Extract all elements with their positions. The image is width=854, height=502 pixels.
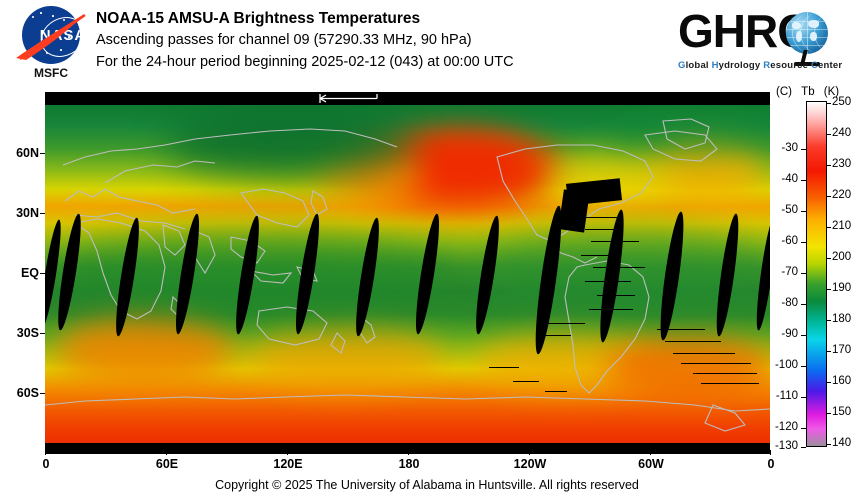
lat-tick-label: 60N bbox=[5, 146, 39, 160]
copyright-notice: Copyright © 2025 The University of Alaba… bbox=[0, 478, 854, 492]
globe-icon bbox=[786, 12, 828, 54]
colorbar-celsius-label: -40 bbox=[768, 173, 798, 185]
colorbar-celsius-label: -90 bbox=[768, 328, 798, 340]
colorbar-kelvin-label: 190 bbox=[832, 282, 854, 294]
lat-tick-label: 30S bbox=[5, 326, 39, 340]
colorbar-celsius-label: -80 bbox=[768, 297, 798, 309]
scanline-artifact bbox=[545, 391, 567, 392]
colorbar-kelvin-label: 230 bbox=[832, 158, 854, 170]
map-bottom-border-bar bbox=[45, 443, 770, 454]
ghrc-tagline: Global Hydrology Resource Center bbox=[678, 60, 846, 71]
scanline-artifact bbox=[581, 255, 621, 256]
scanline-artifact bbox=[537, 335, 571, 336]
colorbar-celsius-label: -100 bbox=[764, 359, 798, 371]
colorbar-celsius-label: -120 bbox=[764, 421, 798, 433]
page-subtitle-channel: Ascending passes for channel 09 (57290.3… bbox=[96, 29, 656, 51]
colorbar-kelvin-label: 210 bbox=[832, 220, 854, 232]
temperature-colorbar[interactable] bbox=[806, 101, 827, 447]
scanline-artifact bbox=[593, 267, 645, 268]
scanline-artifact bbox=[597, 295, 635, 296]
colorbar-celsius-label: -50 bbox=[768, 204, 798, 216]
scanline-artifact bbox=[579, 217, 623, 218]
lon-tick-label: 60W bbox=[631, 457, 671, 471]
swath-start-marker-icon bbox=[317, 92, 403, 105]
colorbar-celsius-label: -60 bbox=[768, 235, 798, 247]
page-header: NASA MSFC NOAA-15 AMSU-A Brightness Temp… bbox=[0, 0, 854, 88]
colorbar-kelvin-label: 160 bbox=[832, 375, 854, 387]
colorbar-variable: Tb bbox=[801, 86, 814, 98]
colorbar-kelvin-label: 220 bbox=[832, 189, 854, 201]
lon-tick-label: 120W bbox=[510, 457, 550, 471]
colorbar-kelvin-label: 250 bbox=[832, 96, 854, 108]
colorbar-kelvin-label: 150 bbox=[832, 406, 854, 418]
title-block: NOAA-15 AMSU-A Brightness Temperatures A… bbox=[96, 8, 656, 73]
page-subtitle-period: For the 24-hour period beginning 2025-02… bbox=[96, 51, 656, 73]
lat-tick-label: 30N bbox=[5, 206, 39, 220]
scanline-artifact bbox=[585, 281, 631, 282]
colorbar-kelvin-label: 170 bbox=[832, 344, 854, 356]
scanline-artifact bbox=[591, 241, 639, 242]
scanline-artifact bbox=[589, 309, 633, 310]
scanline-artifact bbox=[585, 229, 621, 230]
lat-tick-label: EQ bbox=[5, 266, 39, 280]
scanline-artifact bbox=[513, 381, 539, 382]
colorbar-kelvin-label: 200 bbox=[832, 251, 854, 263]
colorbar-kelvin-label: 240 bbox=[832, 127, 854, 139]
scanline-artifact bbox=[665, 341, 721, 342]
colorbar-celsius-label: -30 bbox=[768, 142, 798, 154]
lon-tick-label: 0 bbox=[751, 457, 791, 471]
colorbar-celsius-label: -70 bbox=[768, 266, 798, 278]
coastlines bbox=[45, 105, 770, 443]
lon-tick-label: 120E bbox=[268, 457, 308, 471]
scanline-artifact bbox=[681, 363, 751, 364]
ghrc-logo: GHRC Global Hydrology Resource Center bbox=[676, 6, 848, 76]
lon-tick-label: 60E bbox=[147, 457, 187, 471]
colorbar-celsius-label: -110 bbox=[764, 390, 798, 402]
nasa-center-label: MSFC bbox=[10, 66, 92, 80]
nasa-red-chevron-icon bbox=[14, 10, 88, 62]
scanline-artifact bbox=[545, 323, 585, 324]
scanline-artifact bbox=[701, 383, 759, 384]
swath-gap-block bbox=[558, 189, 589, 232]
colorbar-kelvin-label: 180 bbox=[832, 313, 854, 325]
lat-tick-label: 60S bbox=[5, 386, 39, 400]
nasa-logo: NASA MSFC bbox=[10, 4, 90, 82]
temperature-field bbox=[45, 105, 770, 443]
brightness-temperature-map[interactable] bbox=[45, 92, 770, 454]
colorbar-kelvin-label: 140 bbox=[832, 437, 854, 449]
scanline-artifact bbox=[693, 373, 757, 374]
scanline-artifact bbox=[489, 367, 519, 368]
colorbar-header: (C) Tb (K) bbox=[776, 86, 839, 98]
map-top-border-bar bbox=[45, 92, 770, 105]
page-title: NOAA-15 AMSU-A Brightness Temperatures bbox=[96, 8, 656, 29]
scanline-artifact bbox=[673, 353, 735, 354]
lon-tick-label: 180 bbox=[389, 457, 429, 471]
lon-tick-label: 0 bbox=[26, 457, 66, 471]
colorbar-unit-celsius: (C) bbox=[776, 86, 792, 98]
scanline-artifact bbox=[657, 329, 705, 330]
